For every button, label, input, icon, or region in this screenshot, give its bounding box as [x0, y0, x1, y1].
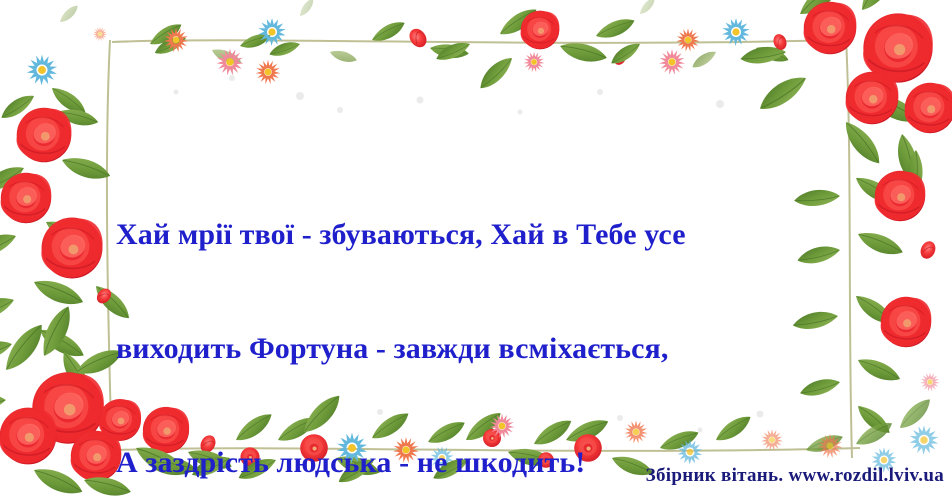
site-watermark: Збірник вітань. www.rozdil.lviv.ua — [0, 465, 944, 487]
greeting-line-2: виходить Фортуна - завжди всміхається, — [116, 330, 816, 368]
greeting-message: Хай мрії твої - збуваються, Хай в Тебе у… — [116, 140, 816, 496]
greeting-line-1: Хай мрії твої - збуваються, Хай в Тебе у… — [116, 216, 816, 254]
top-vine-decor — [57, 0, 790, 93]
greeting-card: Хай мрії твої - збуваються, Хай в Тебе у… — [0, 0, 952, 496]
left-vine-decor — [0, 55, 134, 397]
